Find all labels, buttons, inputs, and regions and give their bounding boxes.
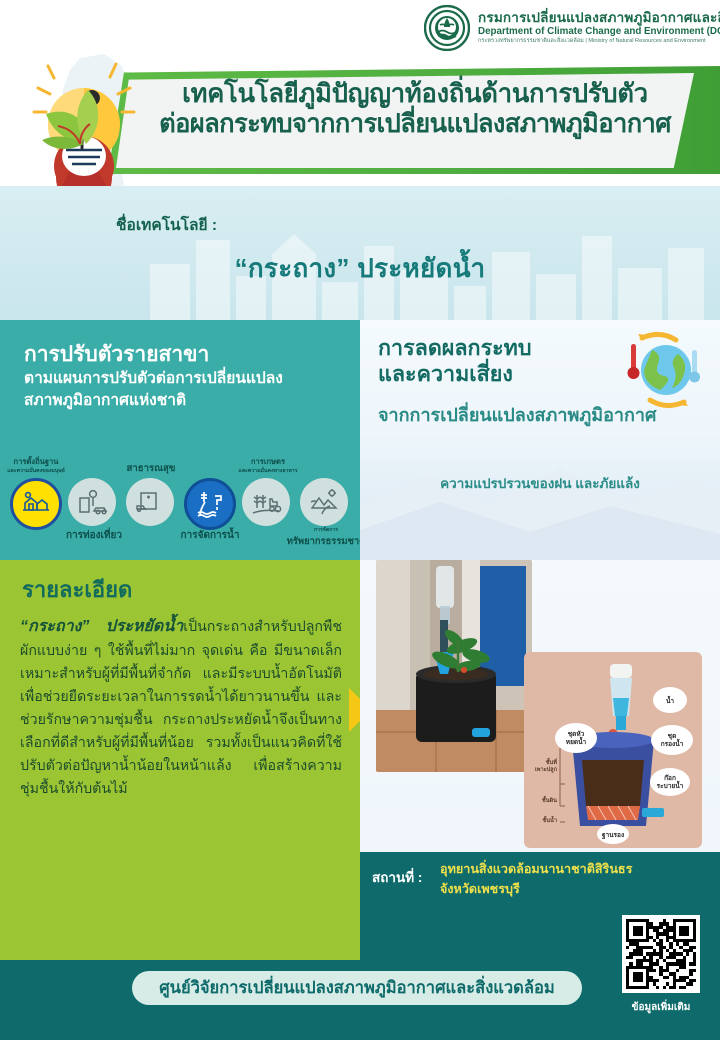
agriculture-tractor-icon	[242, 478, 290, 526]
hospital-ambulance-icon	[126, 478, 174, 526]
mitigation-heading-line1: การลดผลกระทบ	[378, 336, 610, 362]
qr-code-icon[interactable]	[622, 915, 700, 993]
footer-text: ศูนย์วิจัยการเปลี่ยนแปลงสภาพภูมิอากาศและ…	[159, 975, 555, 1001]
sector-item-water-management[interactable]: การจัดการน้ำ	[184, 478, 234, 530]
sector-item-settlements[interactable]: การตั้งถิ่นฐาน และความมั่นคงของมนุษย์	[10, 478, 60, 530]
diagram-label-base: ฐานรอง	[602, 832, 624, 840]
village-settlement-icon	[10, 478, 62, 530]
globe-thermometer-icon	[618, 328, 704, 414]
sector-label-agriculture: การเกษตร	[236, 458, 300, 467]
qr-grid	[626, 919, 696, 989]
banner-title: เทคโนโลยีภูมิปัญญาท้องถิ่นด้านการปรับตัว…	[152, 80, 678, 140]
title-banner: เทคโนโลยีภูมิปัญญาท้องถิ่นด้านการปรับตัว…	[108, 66, 720, 174]
sector-sublabel-agriculture: และความมั่นคงทางอาหาร	[228, 469, 308, 475]
sector-label-water-management: การจัดการน้ำ	[174, 530, 246, 541]
sector-icon-strip: การตั้งถิ่นฐาน และความมั่นคงของมนุษย์ กา…	[6, 448, 358, 554]
diagram-label-tap: ก๊อก	[664, 774, 676, 782]
sector-item-tourism[interactable]: การท่องเที่ยว	[68, 478, 118, 526]
mitigation-heading: การลดผลกระทบ และความเสี่ยง	[378, 336, 610, 388]
lightbulb-leaf-pin-icon	[12, 44, 162, 186]
tourism-city-car-icon	[68, 478, 116, 526]
water-management-tap-icon	[184, 478, 236, 530]
sector-label-public-health: สาธารณสุข	[114, 464, 188, 475]
sector-item-natural-resources[interactable]: การจัดการ ทรัพยากรธรรมชาติ	[300, 478, 350, 526]
mitigation-panel: การลดผลกระทบ และความเสี่ยง จากการเปลี่ยน…	[360, 320, 720, 560]
poster-root: กรมการเปลี่ยนแปลงสภาพภูมิอากาศและสิ่งแวด…	[0, 0, 720, 1040]
dcce-logo-block: กรมการเปลี่ยนแปลงสภาพภูมิอากาศและสิ่งแวด…	[424, 5, 720, 51]
technology-label: ชื่อเทคโนโลยี :	[116, 212, 217, 237]
adaptation-heading: การปรับตัวรายสาขา	[24, 338, 209, 371]
thermometer-hot	[628, 344, 640, 379]
adaptation-subheading: ตามแผนการปรับตัวต่อการเปลี่ยนแปลง สภาพภู…	[24, 368, 340, 412]
mitigation-heading-line2: และความเสี่ยง	[378, 362, 610, 388]
media-panel: น้ำ ชุด กรองน้ำ ชุดหัว หยดน้ำ ก๊อก ระบาย…	[360, 560, 720, 960]
adaptation-subheading-line1: ตามแผนการปรับตัวต่อการเปลี่ยนแปลง	[24, 368, 340, 390]
header: กรมการเปลี่ยนแปลงสภาพภูมิอากาศและสิ่งแวด…	[0, 0, 720, 186]
photo-plant-pot	[376, 560, 532, 772]
ministry-line: กระทรวงทรัพยากรธรรมชาติและสิ่งแวดล้อม | …	[478, 39, 720, 45]
location-label: สถานที่ :	[372, 866, 422, 888]
sector-label-natural-resources: การจัดการ	[290, 528, 360, 534]
photo-diagram-cross-section: น้ำ ชุด กรองน้ำ ชุดหัว หยดน้ำ ก๊อก ระบาย…	[524, 652, 702, 848]
org-name-en: Department of Climate Change and Environ…	[478, 27, 720, 37]
location-line2: จังหวัดเพชรบุรี	[440, 880, 650, 900]
sector-item-agriculture[interactable]: การเกษตร และความมั่นคงทางอาหาร	[242, 478, 292, 526]
dcce-emblem-icon	[424, 5, 470, 51]
location-value: อุทยานสิ่งแวดล้อมนานาชาติสิรินธร จังหวัด…	[440, 860, 650, 899]
qr-caption: ข้อมูลเพิ่มเติม	[614, 1000, 708, 1015]
diagram-label-filter: ชุด	[668, 733, 677, 740]
natural-resources-mountain-icon	[300, 478, 348, 526]
location-line1: อุทยานสิ่งแวดล้อมนานาชาติสิรินธร	[440, 860, 650, 880]
sector-sublabel-settlements: และความมั่นคงของมนุษย์	[0, 469, 76, 475]
footer-pill: ศูนย์วิจัยการเปลี่ยนแปลงสภาพภูมิอากาศและ…	[132, 971, 582, 1005]
banner-title-line1: เทคโนโลยีภูมิปัญญาท้องถิ่นด้านการปรับตัว	[152, 80, 678, 110]
diagram-label-drip: ชุดหัว	[568, 730, 585, 738]
footer: ศูนย์วิจัยการเปลี่ยนแปลงสภาพภูมิอากาศและ…	[0, 960, 720, 1040]
banner-title-line2: ต่อผลกระทบจากการเปลี่ยนแปลงสภาพภูมิอากาศ	[152, 110, 678, 140]
adaptation-panel: การปรับตัวรายสาขา ตามแผนการปรับตัวต่อการ…	[0, 320, 360, 560]
sector-sublabel-natural-resources: ทรัพยากรธรรมชาติ	[282, 536, 360, 547]
mitigation-risk-text: ความแปรปรวนของฝน และภัยแล้ง	[360, 472, 720, 494]
diagram-label-plant-layer2: เพาะปลูก	[535, 765, 558, 774]
adaptation-subheading-line2: สภาพภูมิอากาศแห่งชาติ	[24, 390, 340, 412]
details-body-text: เป็นกระถางสำหรับปลูกพืชผักแบบง่าย ๆ ใช้พ…	[20, 619, 342, 797]
sector-label-settlements: การตั้งถิ่นฐาน	[4, 458, 68, 467]
technology-name: “กระถาง” ประหยัดน้ำ	[0, 248, 720, 289]
sector-item-public-health[interactable]: สาธารณสุข	[126, 478, 176, 526]
hills-silhouette	[360, 450, 720, 560]
details-body: “กระถาง” ประหยัดน้ำเป็นกระถางสำหรับปลูกพ…	[20, 614, 342, 801]
details-title: รายละเอียด	[22, 572, 132, 607]
details-panel: รายละเอียด “กระถาง” ประหยัดน้ำเป็นกระถาง…	[0, 560, 360, 960]
details-lead: “กระถาง” ประหยัดน้ำ	[20, 618, 183, 635]
org-name-th: กรมการเปลี่ยนแปลงสภาพภูมิอากาศและสิ่งแวด…	[478, 11, 720, 25]
technology-name-band: ชื่อเทคโนโลยี : “กระถาง” ประหยัดน้ำ	[0, 186, 720, 320]
sector-label-tourism: การท่องเที่ยว	[58, 530, 130, 541]
